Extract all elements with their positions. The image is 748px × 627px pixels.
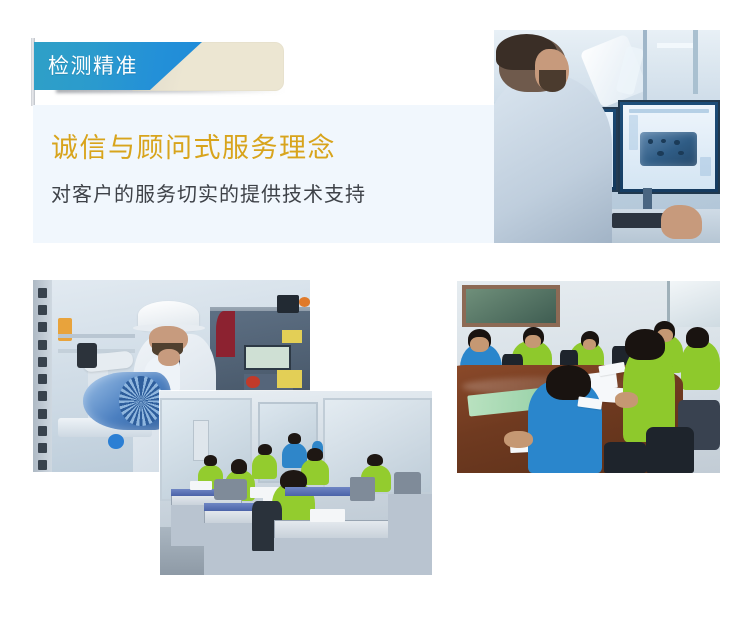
headline-subtitle: 对客户的服务切实的提供技术支持: [51, 180, 366, 208]
ribbon-label: 检测精准: [48, 52, 138, 80]
slide-canvas: 检测精准 诚信与顾问式服务理念 对客户的服务切实的提供技术支持: [0, 0, 748, 627]
headline-panel: 诚信与顾问式服务理念 对客户的服务切实的提供技术支持: [33, 105, 494, 243]
photo-open-plan-office: [160, 391, 432, 575]
photo-cad-engineer-workstation: [494, 30, 720, 243]
headline-title: 诚信与顾问式服务理念: [51, 131, 336, 167]
photo-team-meeting-room: [457, 281, 720, 473]
ribbon-banner: 检测精准: [34, 42, 284, 92]
